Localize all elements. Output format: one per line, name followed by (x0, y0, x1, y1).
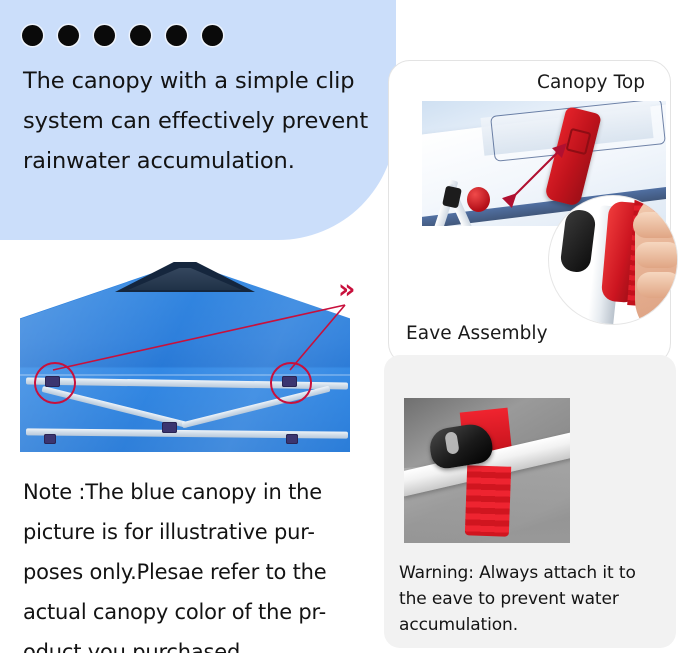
blue-canopy-photo (20, 262, 350, 452)
canopy-top-label: Canopy Top (537, 72, 645, 93)
bullet-dot-icon (166, 25, 187, 46)
note-disclaimer-text: Note :The blue canopy in the picture is … (23, 472, 355, 653)
eave-assembly-inset-photo (549, 196, 677, 324)
bullet-dot-icon (58, 25, 79, 46)
frame-fitting-bottom-left (44, 434, 56, 444)
bullet-dot-icon (22, 25, 43, 46)
bullet-dot-icon (130, 25, 151, 46)
bullet-dot-icon (202, 25, 223, 46)
callout-chevron-icon: » (338, 276, 352, 303)
left-column: The canopy with a simple clip system can… (0, 0, 400, 653)
black-clip-body (559, 208, 596, 273)
highlight-circle-left (34, 362, 76, 404)
strap-attachment-photo (404, 398, 570, 543)
finger-shape (633, 212, 677, 238)
red-knob-fitting (467, 187, 490, 212)
headline-speech-bubble: The canopy with a simple clip system can… (0, 0, 396, 240)
right-column: Canopy Top (380, 0, 679, 653)
bullet-dots-row (22, 25, 223, 46)
product-infographic-poster: The canopy with a simple clip system can… (0, 0, 679, 653)
eave-assembly-label: Eave Assembly (406, 323, 548, 344)
frame-fitting-center (162, 422, 177, 433)
finger-shape (637, 272, 677, 298)
red-strap-lower (465, 465, 511, 536)
finger-shape (635, 242, 677, 268)
highlight-circle-right (270, 362, 312, 404)
canopy-top-card: Canopy Top (388, 60, 671, 365)
headline-text: The canopy with a simple clip system can… (23, 61, 383, 181)
warning-text: Warning: Always attach it to the eave to… (399, 560, 661, 638)
bullet-dot-icon (94, 25, 115, 46)
frame-fitting-bottom-right (286, 434, 298, 444)
warning-panel: Warning: Always attach it to the eave to… (384, 355, 676, 648)
